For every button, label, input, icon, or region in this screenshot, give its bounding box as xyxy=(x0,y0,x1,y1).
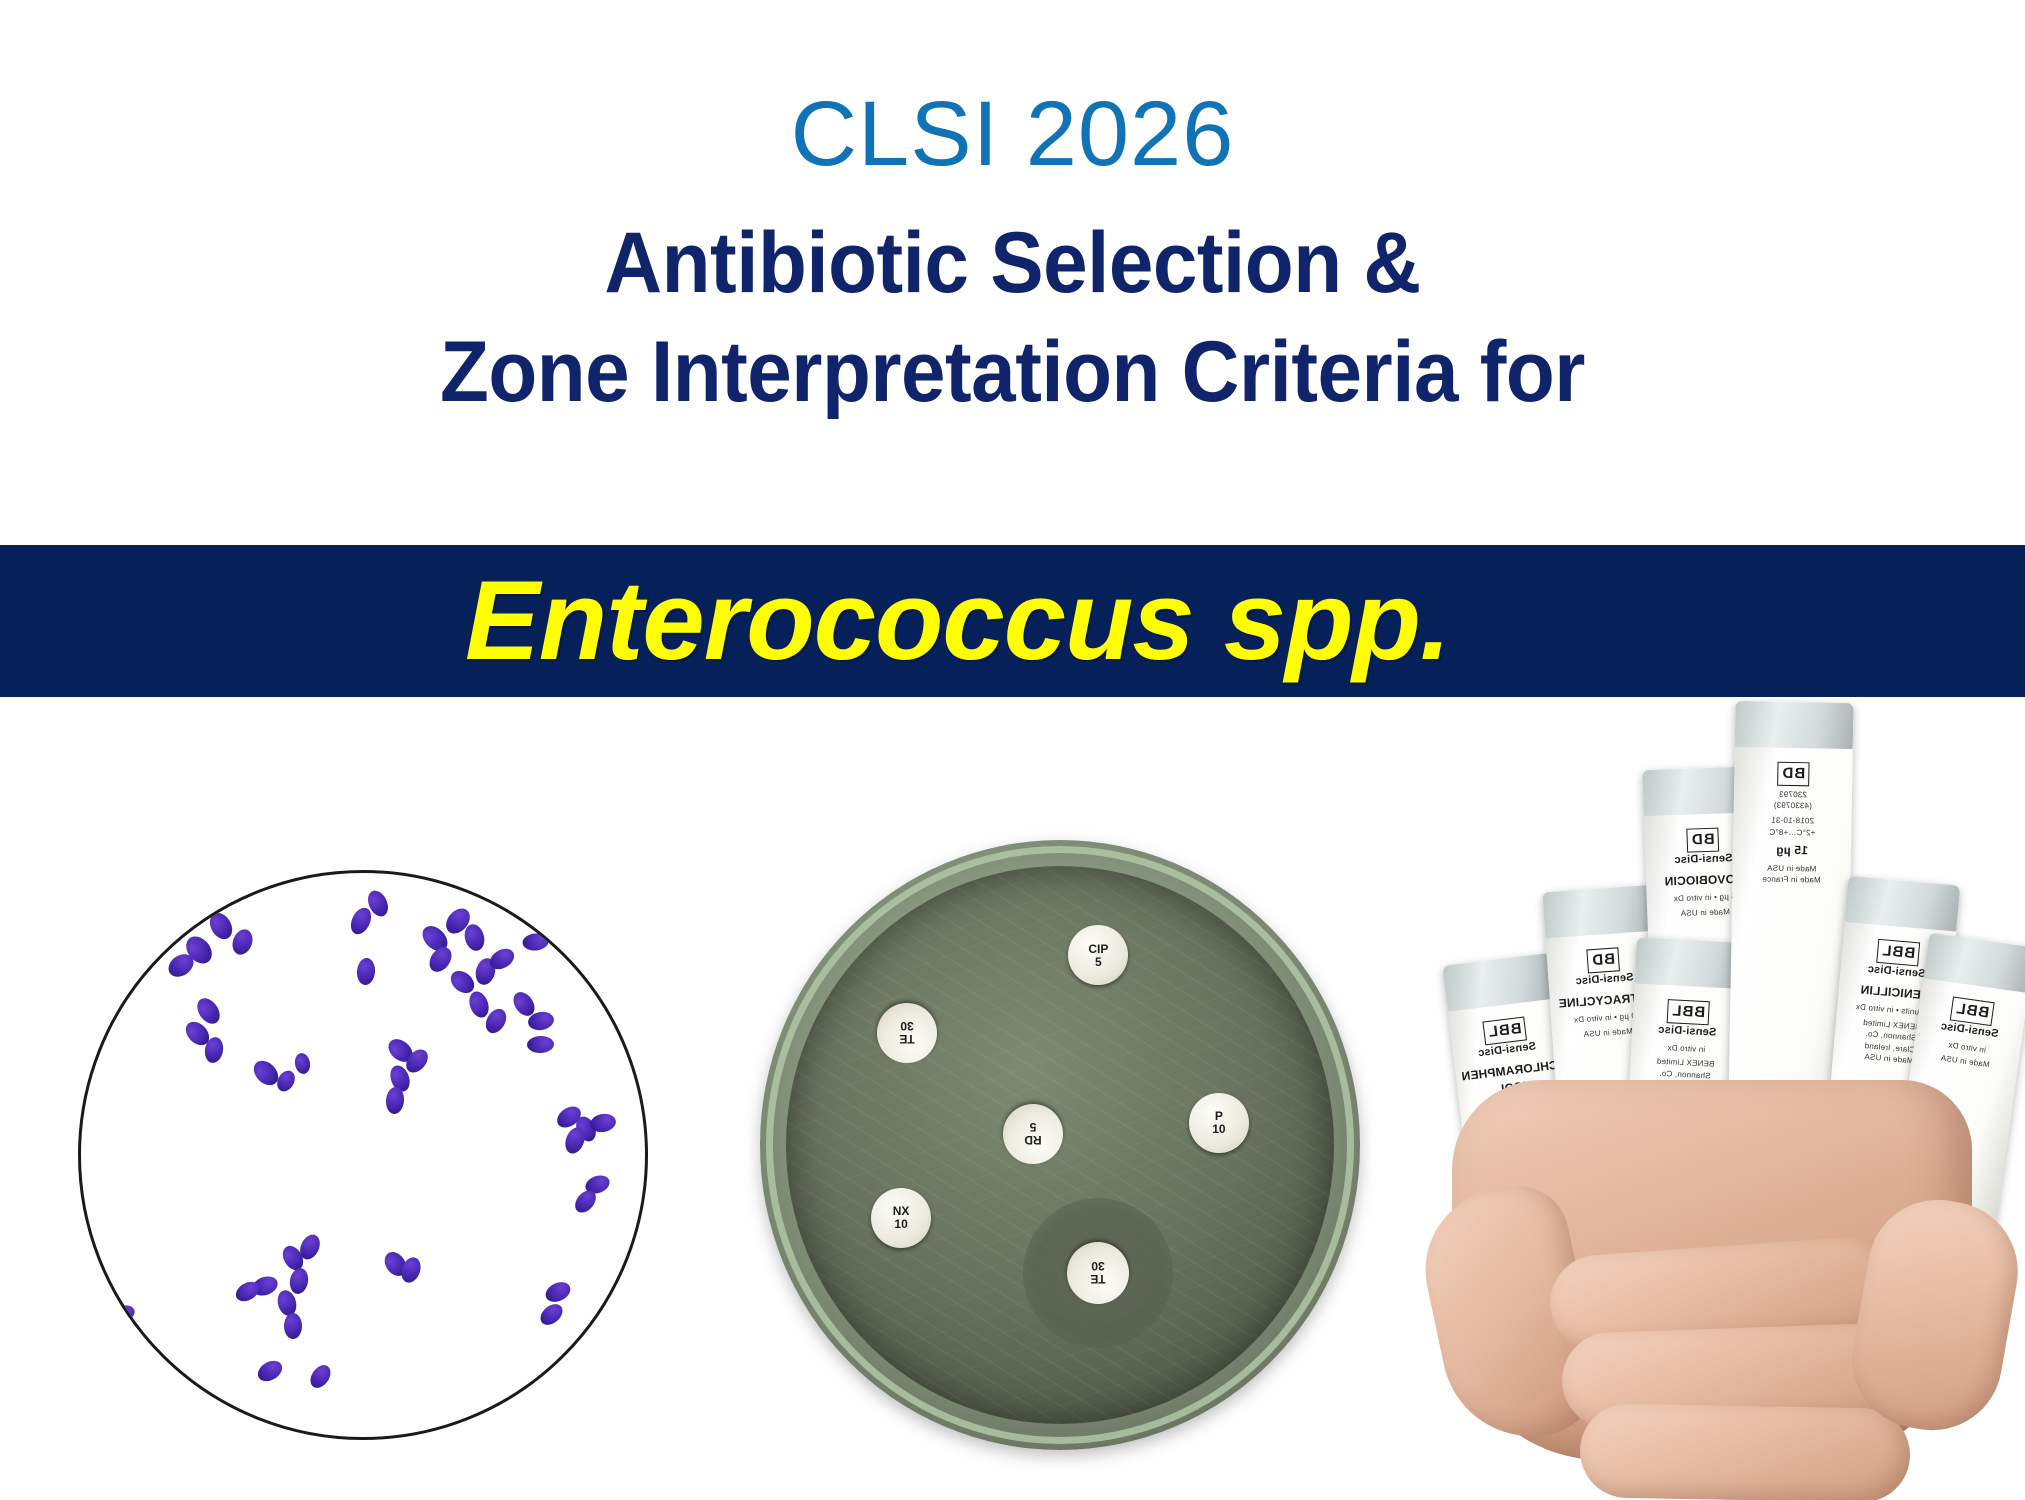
slide-root: CLSI 2026 Antibiotic Selection & Zone In… xyxy=(0,0,2025,1500)
disc-code: P xyxy=(1215,1110,1223,1122)
photo-strip: CIP5TE30P10RD5NX10TE30 BBL Sensi-Disc CH… xyxy=(0,700,2025,1500)
cartridge-cap-icon xyxy=(1542,885,1657,939)
heading-line-1: Antibiotic Selection & xyxy=(71,212,1954,315)
ciprofloxacin-disc: CIP5 xyxy=(1068,925,1128,985)
center-disc: RD5 xyxy=(1003,1104,1063,1164)
coccus xyxy=(229,927,256,958)
agar-plate-photo: CIP5TE30P10RD5NX10TE30 xyxy=(760,840,1360,1450)
title-block: CLSI 2026 Antibiotic Selection & Zone In… xyxy=(0,0,2025,545)
cartridge-cap-icon xyxy=(1442,953,1555,1012)
penicillin-disc: P10 xyxy=(1189,1093,1249,1153)
disc-code: CIP xyxy=(1088,943,1108,955)
heading-line-2: Zone Interpretation Criteria for xyxy=(71,321,1954,424)
cartridge-cap-icon xyxy=(1923,933,2025,993)
disc-potency: 5 xyxy=(1095,956,1102,968)
coccus xyxy=(109,1302,137,1325)
disc-code: RD xyxy=(1024,1134,1041,1146)
petri-dish-rim: CIP5TE30P10RD5NX10TE30 xyxy=(760,840,1360,1450)
coccus xyxy=(288,1266,310,1295)
disc-upper-left: TE30 xyxy=(877,1003,937,1063)
disc-potency: 10 xyxy=(894,1218,907,1230)
coccus xyxy=(307,1361,335,1391)
disc-potency: 5 xyxy=(1029,1121,1036,1133)
coccus xyxy=(205,909,236,943)
organism-name: Enterococcus spp. xyxy=(465,565,1450,677)
disc-code: TE xyxy=(899,1034,914,1046)
finger-ring xyxy=(1579,1403,1911,1500)
disc-code: NX xyxy=(893,1205,910,1217)
cartridge-cap-icon xyxy=(1845,876,1961,932)
gram-stain-photo xyxy=(78,870,648,1440)
disc-cartridges-photo: BBL Sensi-Disc CHLORAMPHENICOL 30 µg • i… xyxy=(1430,540,2025,1460)
disc-potency: 10 xyxy=(1212,1123,1225,1135)
cartridge-cap-icon xyxy=(1735,701,1854,749)
norfloxacin-disc: NX10 xyxy=(871,1188,931,1248)
inhibition-zone xyxy=(1023,1198,1173,1348)
coccus xyxy=(425,943,456,976)
coccus xyxy=(527,1035,555,1053)
clsi-year-title: CLSI 2026 xyxy=(0,88,2025,180)
coccus xyxy=(284,1313,302,1339)
mueller-hinton-agar: CIP5TE30P10RD5NX10TE30 xyxy=(786,866,1334,1424)
bottom-disc: TE30 xyxy=(1067,1242,1129,1304)
coccus xyxy=(521,933,548,952)
coccus xyxy=(384,1087,404,1115)
disc-code: TE xyxy=(1091,1274,1106,1286)
disc-potency: 30 xyxy=(1092,1261,1105,1273)
disc-potency: 30 xyxy=(900,1021,913,1033)
coccus xyxy=(543,1278,574,1305)
coccus xyxy=(356,957,376,985)
microscope-field xyxy=(78,870,648,1440)
coccus xyxy=(537,1300,567,1329)
coccus xyxy=(255,1357,287,1386)
coccus xyxy=(294,1052,312,1075)
